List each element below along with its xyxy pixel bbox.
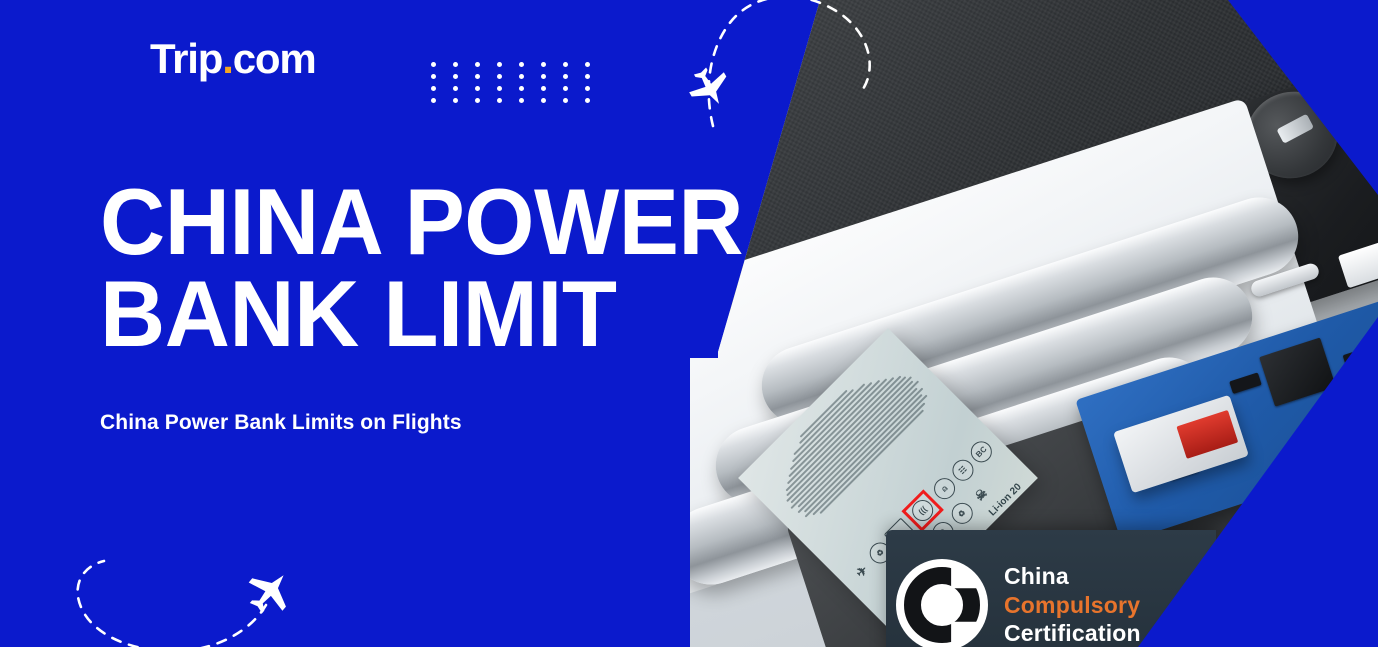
airplane-icon [239, 561, 300, 622]
ccc-callout-text: China Compulsory Certification [1004, 562, 1141, 647]
headline-line-1: CHINA POWER [100, 176, 743, 268]
ccc-line-2: Compulsory [1004, 591, 1141, 620]
page-subtitle: China Power Bank Limits on Flights [100, 411, 462, 435]
trip-com-logo[interactable]: Trip.com [150, 38, 315, 80]
ccc-line-1: China [1004, 562, 1141, 591]
product-photo: ✈ ♻ ((( ⍝ ☷ BC ♲ ◉ ☉ ♻ ☠ Li-ion 20 [690, 0, 1378, 647]
headline-line-2: BANK LIMIT [100, 268, 743, 360]
logo-dot: . [222, 35, 232, 82]
dot-grid-decoration [431, 62, 607, 110]
airplane-icon [683, 61, 737, 114]
smd-component [1229, 372, 1262, 394]
promo-banner: ✈ ♻ ((( ⍝ ☷ BC ♲ ◉ ☉ ♻ ☠ Li-ion 20 [0, 0, 1378, 647]
page-title: CHINA POWER BANK LIMIT [100, 176, 743, 360]
logo-word-trip: Trip [150, 35, 222, 82]
airplane-path-bottom [40, 545, 320, 647]
logo-word-com: com [233, 35, 316, 82]
ccc-logo-icon [896, 559, 988, 647]
ccc-line-3: Certification [1004, 619, 1141, 647]
